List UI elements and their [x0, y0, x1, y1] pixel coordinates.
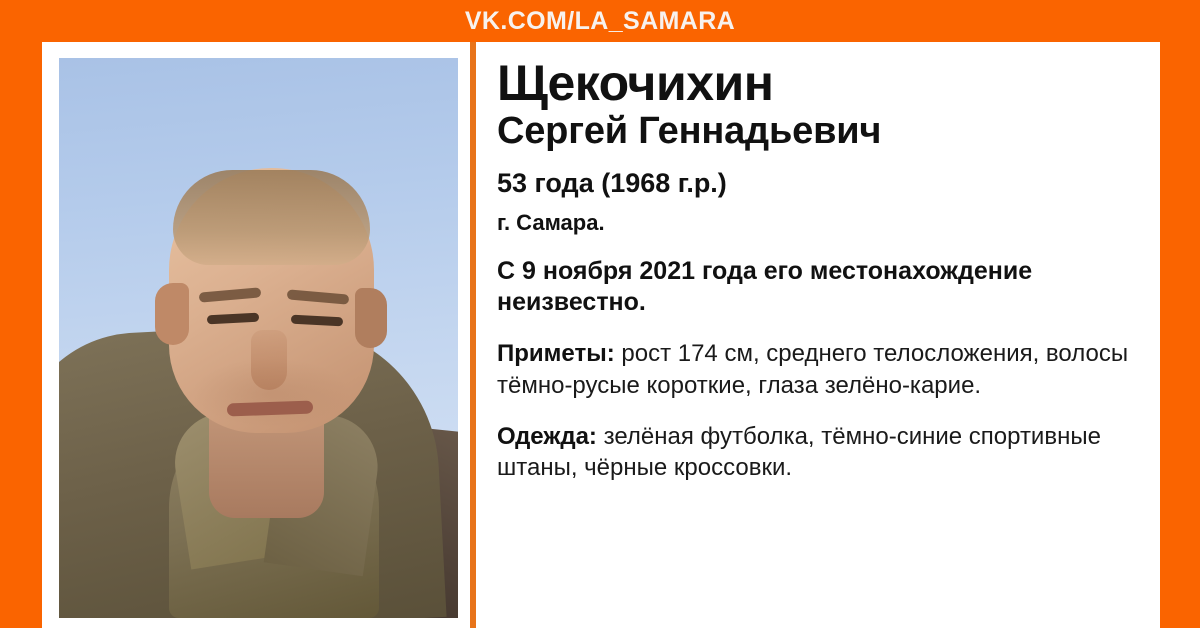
poster-card: Щекочихин Сергей Геннадьевич 53 года (19…: [42, 42, 1160, 628]
features-paragraph: Приметы: рост 174 см, среднего телосложе…: [497, 338, 1157, 402]
person-age: 53 года (1968 г.р.): [497, 168, 1142, 199]
missing-person-poster: VK.COM/LA_SAMARA: [0, 0, 1200, 628]
person-city: г. Самара.: [497, 210, 1142, 235]
hair: [173, 170, 370, 265]
vk-group-url: VK.COM/LA_SAMARA: [465, 9, 735, 34]
cheek-shading: [191, 358, 351, 428]
clothing-label: Одежда:: [497, 423, 597, 450]
ear-left: [155, 283, 189, 345]
person-given-name: Сергей Геннадьевич: [497, 108, 1142, 154]
person-surname: Щекочихин: [497, 58, 1142, 108]
missing-person-photo: [59, 58, 458, 618]
header-bar: VK.COM/LA_SAMARA: [0, 0, 1200, 42]
ear-right: [355, 288, 387, 348]
features-label: Приметы:: [497, 340, 615, 367]
photo-frame: [59, 58, 458, 618]
missing-since-statement: С 9 ноября 2021 года его местонахождение…: [497, 256, 1157, 319]
details-column: Щекочихин Сергей Геннадьевич 53 года (19…: [497, 58, 1142, 484]
clothing-paragraph: Одежда: зелёная футболка, тёмно-синие сп…: [497, 421, 1157, 485]
vertical-divider: [470, 42, 476, 628]
